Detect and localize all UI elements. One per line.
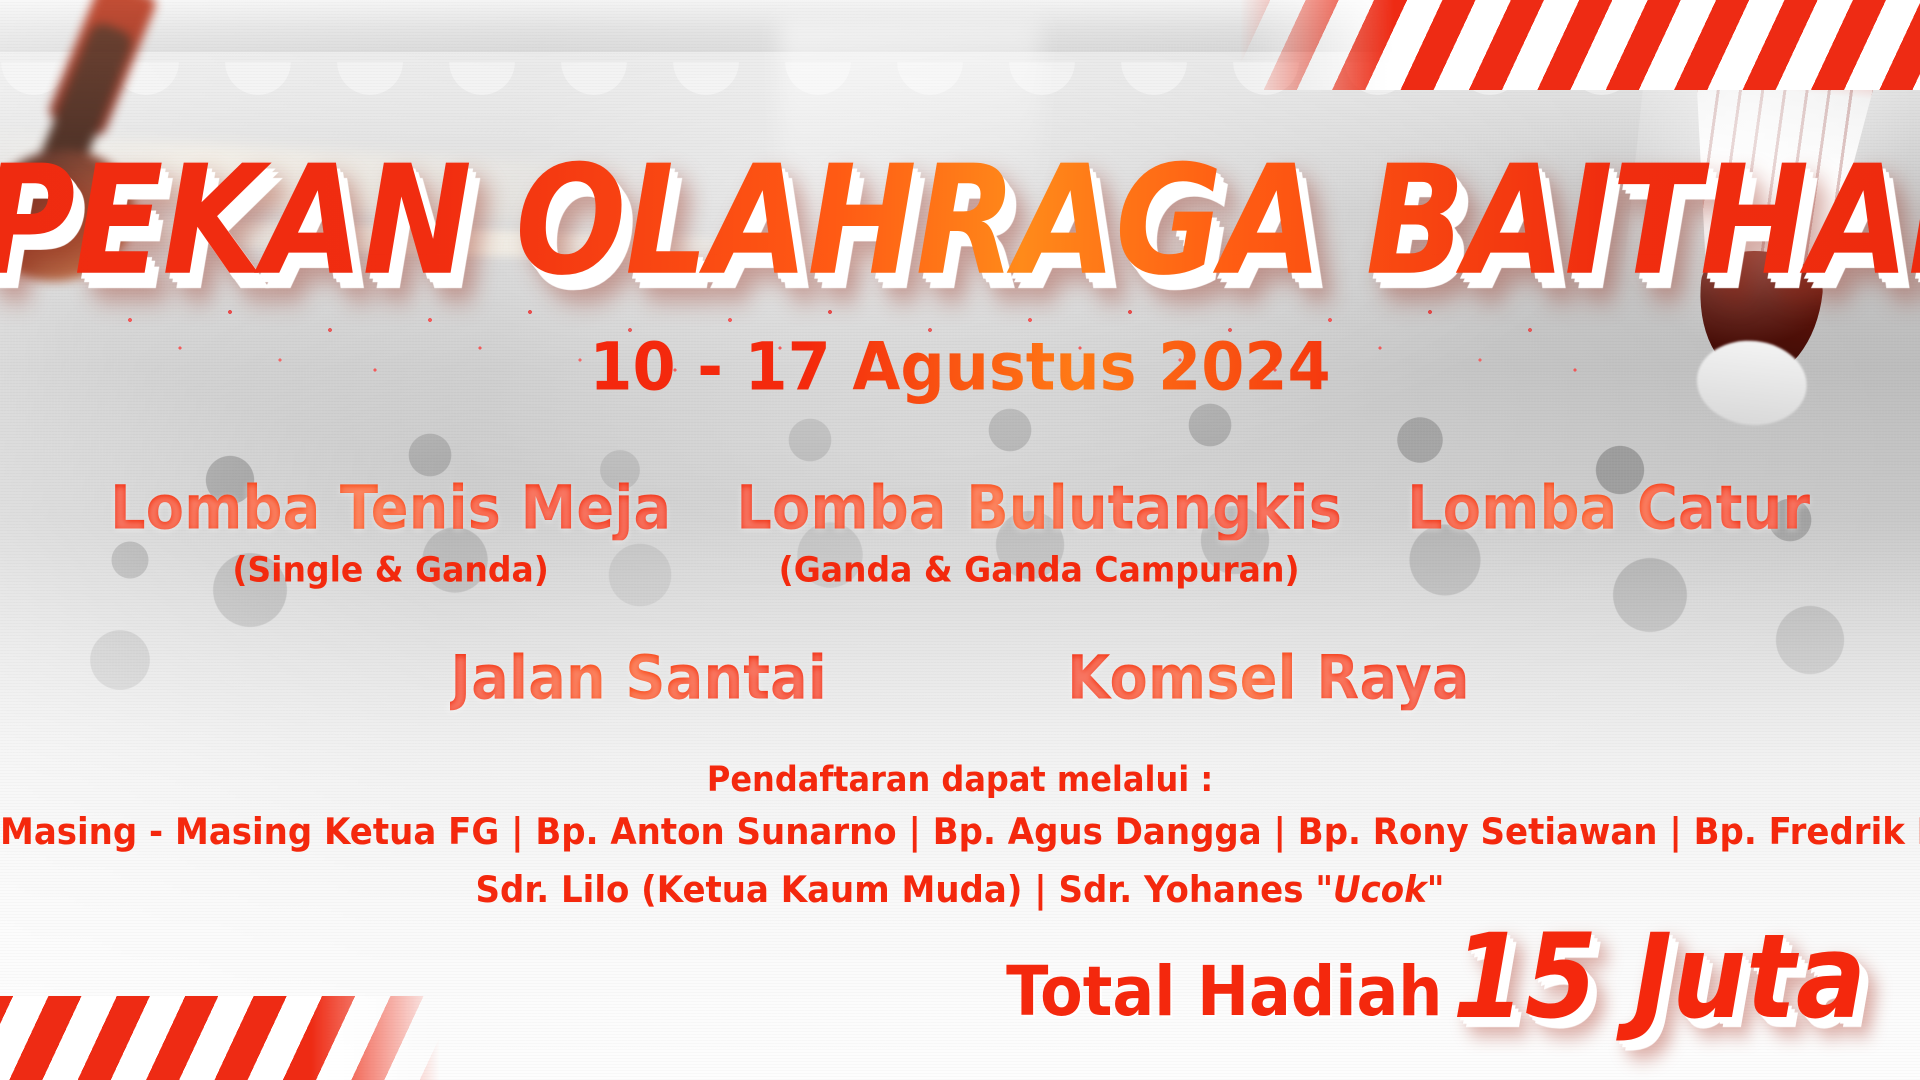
event-name: Lomba Tenis Meja xyxy=(110,478,671,541)
event-date: 10 - 17 Agustus 2024 xyxy=(0,328,1920,405)
event-subtitle: (Ganda & Ganda Campuran) xyxy=(736,549,1342,590)
events-row-primary: Lomba Tenis Meja (Single & Ganda) Lomba … xyxy=(110,480,1810,589)
event-name: Lomba Catur xyxy=(1407,478,1810,541)
title-container: PEKAN OLAHRAGA BAITHANI xyxy=(0,150,1920,273)
poster-canvas: PEKAN OLAHRAGA BAITHANI 10 - 17 Agustus … xyxy=(0,0,1920,1080)
event-subtitle: (Single & Ganda) xyxy=(110,549,671,590)
registration-contacts-line-2: Sdr. Lilo (Ketua Kaum Muda) | Sdr. Yohan… xyxy=(0,868,1920,911)
event-item-bulutangkis: Lomba Bulutangkis (Ganda & Ganda Campura… xyxy=(736,480,1342,589)
prize-block: Total Hadiah 15 Juta xyxy=(1006,931,1866,1028)
event-name: Komsel Raya xyxy=(1067,648,1470,711)
events-row-secondary: Jalan Santai Komsel Raya xyxy=(0,650,1920,708)
event-item-catur: Lomba Catur xyxy=(1407,480,1810,538)
prize-amount: 15 Juta xyxy=(1452,925,1866,1030)
event-name: Jalan Santai xyxy=(450,648,827,711)
prize-label: Total Hadiah xyxy=(1006,951,1442,1031)
registration-contacts-line-1: Masing - Masing Ketua FG | Bp. Anton Sun… xyxy=(0,810,1920,853)
event-name: Lomba Bulutangkis xyxy=(736,478,1342,541)
registration-contact-nickname: "Ucok" xyxy=(1315,868,1444,911)
registration-block: Pendaftaran dapat melalui : Masing - Mas… xyxy=(0,760,1920,910)
event-item-tenis-meja: Lomba Tenis Meja (Single & Ganda) xyxy=(110,480,671,589)
poster-content: PEKAN OLAHRAGA BAITHANI 10 - 17 Agustus … xyxy=(0,0,1920,1080)
registration-heading: Pendaftaran dapat melalui : xyxy=(0,758,1920,799)
page-title: PEKAN OLAHRAGA BAITHANI xyxy=(0,150,1920,295)
event-item-komsel-raya: Komsel Raya xyxy=(1067,650,1470,708)
event-item-jalan-santai: Jalan Santai xyxy=(450,650,827,708)
registration-contacts-line-2-prefix: Sdr. Lilo (Ketua Kaum Muda) | Sdr. Yohan… xyxy=(476,868,1316,911)
